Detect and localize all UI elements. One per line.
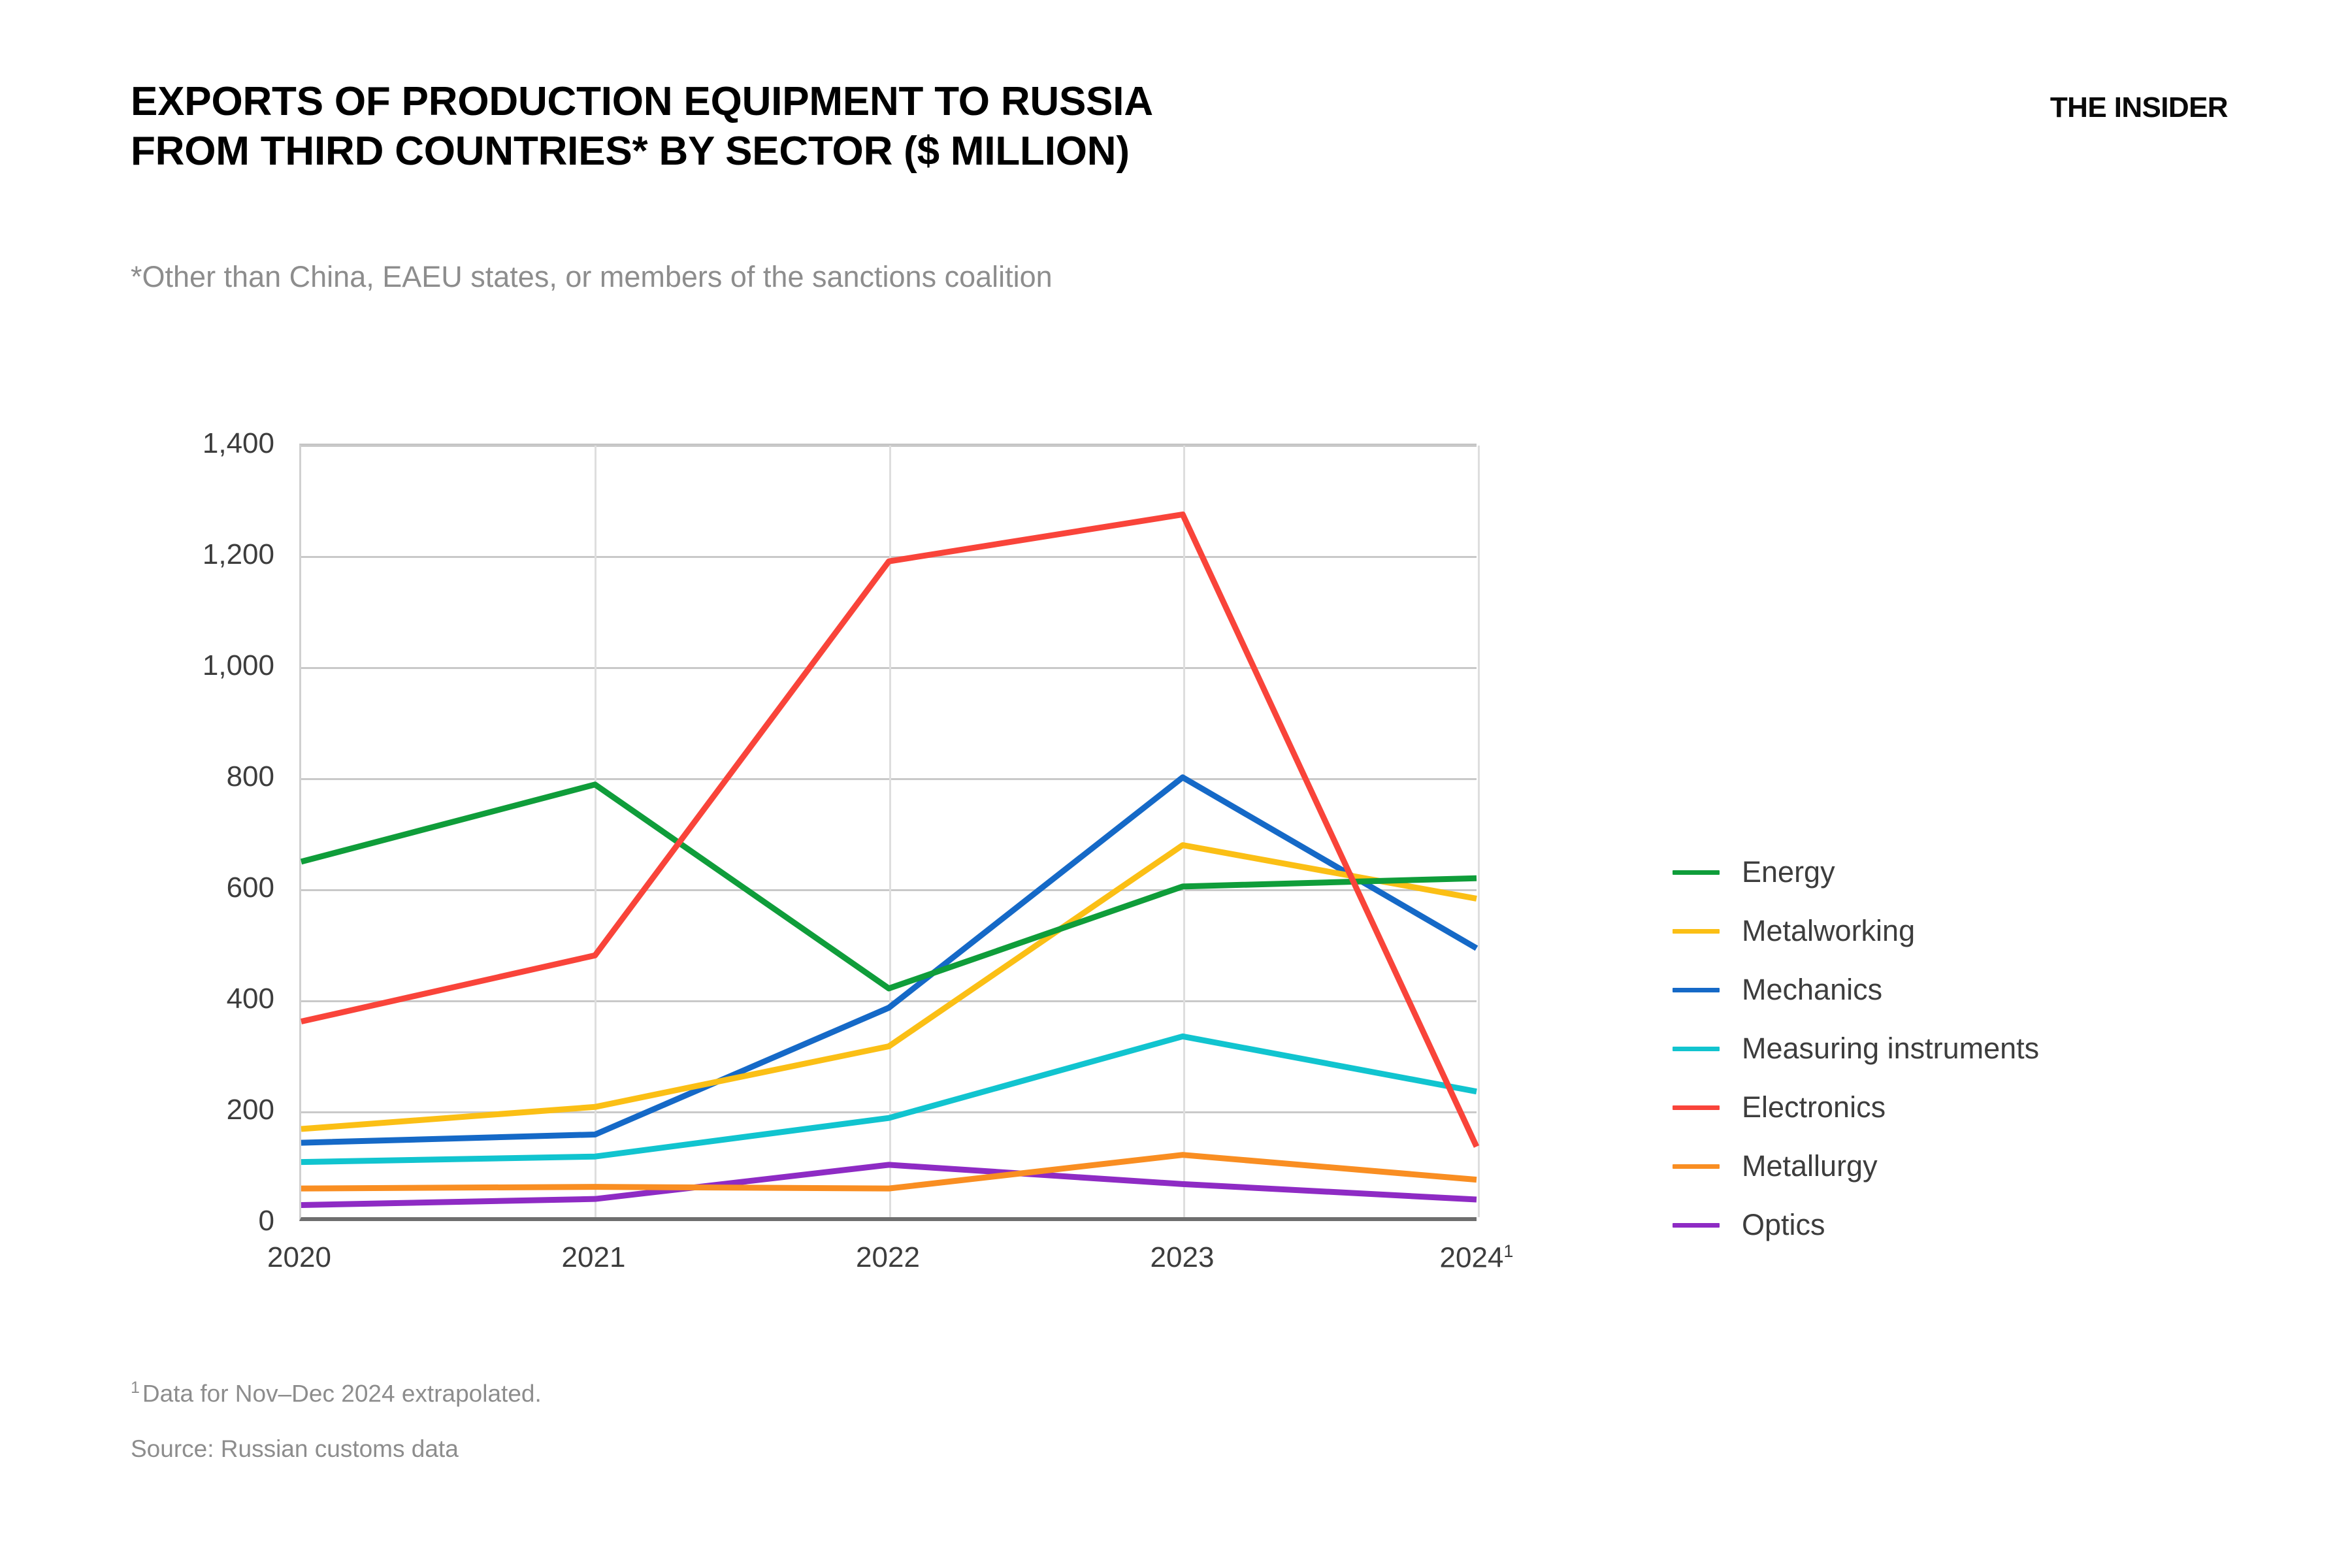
series-line-mechanics bbox=[301, 777, 1477, 1143]
legend-label: Metallurgy bbox=[1742, 1149, 1878, 1183]
chart-page: EXPORTS OF PRODUCTION EQUIPMENT TO RUSSI… bbox=[0, 0, 2352, 1568]
y-tick-label-1000: 1,000 bbox=[203, 649, 274, 682]
legend-swatch-icon bbox=[1673, 1047, 1720, 1051]
legend-swatch-icon bbox=[1673, 988, 1720, 992]
legend-item-measuring-instruments[interactable]: Measuring instruments bbox=[1673, 1019, 2274, 1078]
vgridline-2024 bbox=[1478, 446, 1480, 1217]
legend-item-metalworking[interactable]: Metalworking bbox=[1673, 902, 2274, 960]
series-line-electronics bbox=[301, 514, 1477, 1147]
footnotes: 1Data for Nov–Dec 2024 extrapolated. Sou… bbox=[131, 1380, 542, 1461]
x-tick-label-2023: 2023 bbox=[1151, 1241, 1215, 1274]
legend-label: Mechanics bbox=[1742, 973, 1882, 1007]
x-tick-label-2024: 20241 bbox=[1440, 1241, 1514, 1275]
footnote-marker: 1 bbox=[131, 1379, 140, 1397]
y-axis-labels: 1,4001,2001,0008006004002000 bbox=[78, 444, 274, 1221]
legend-label: Energy bbox=[1742, 855, 1835, 889]
y-tick-label-400: 400 bbox=[227, 983, 274, 1015]
series-line-measuring-instruments bbox=[301, 1036, 1477, 1162]
footnote-extrapolation: 1Data for Nov–Dec 2024 extrapolated. bbox=[131, 1380, 542, 1405]
legend-item-electronics[interactable]: Electronics bbox=[1673, 1078, 2274, 1137]
y-tick-label-600: 600 bbox=[227, 872, 274, 904]
legend-item-metallurgy[interactable]: Metallurgy bbox=[1673, 1137, 2274, 1196]
legend-swatch-icon bbox=[1673, 1105, 1720, 1110]
legend-swatch-icon bbox=[1673, 929, 1720, 934]
x-tick-label-2020: 2020 bbox=[267, 1241, 331, 1274]
plot-area bbox=[299, 444, 1477, 1221]
legend-item-optics[interactable]: Optics bbox=[1673, 1196, 2274, 1254]
legend-item-energy[interactable]: Energy bbox=[1673, 843, 2274, 902]
footnote-source: Source: Russian customs data bbox=[131, 1437, 542, 1461]
legend-label: Metalworking bbox=[1742, 914, 1915, 948]
footnote-text: Data for Nov–Dec 2024 extrapolated. bbox=[142, 1380, 542, 1407]
y-tick-label-1400: 1,400 bbox=[203, 427, 274, 460]
legend-label: Electronics bbox=[1742, 1090, 1886, 1124]
legend-swatch-icon bbox=[1673, 1223, 1720, 1228]
y-tick-label-200: 200 bbox=[227, 1094, 274, 1126]
legend-swatch-icon bbox=[1673, 870, 1720, 875]
series-lines bbox=[301, 446, 1477, 1217]
x-tick-superscript: 1 bbox=[1503, 1241, 1513, 1261]
y-tick-label-800: 800 bbox=[227, 760, 274, 793]
series-line-energy bbox=[301, 785, 1477, 988]
legend-swatch-icon bbox=[1673, 1164, 1720, 1169]
legend-label: Measuring instruments bbox=[1742, 1032, 2039, 1066]
chart-legend: EnergyMetalworkingMechanicsMeasuring ins… bbox=[1673, 843, 2274, 1254]
x-tick-label-2021: 2021 bbox=[562, 1241, 626, 1274]
legend-item-mechanics[interactable]: Mechanics bbox=[1673, 960, 2274, 1019]
y-tick-label-0: 0 bbox=[259, 1205, 274, 1237]
x-tick-label-2022: 2022 bbox=[856, 1241, 920, 1274]
x-axis-labels: 202020212022202320241 bbox=[299, 1241, 1477, 1294]
y-tick-label-1200: 1,200 bbox=[203, 538, 274, 571]
chart-region: 1,4001,2001,0008006004002000 20202021202… bbox=[0, 0, 2352, 1568]
legend-label: Optics bbox=[1742, 1208, 1825, 1242]
